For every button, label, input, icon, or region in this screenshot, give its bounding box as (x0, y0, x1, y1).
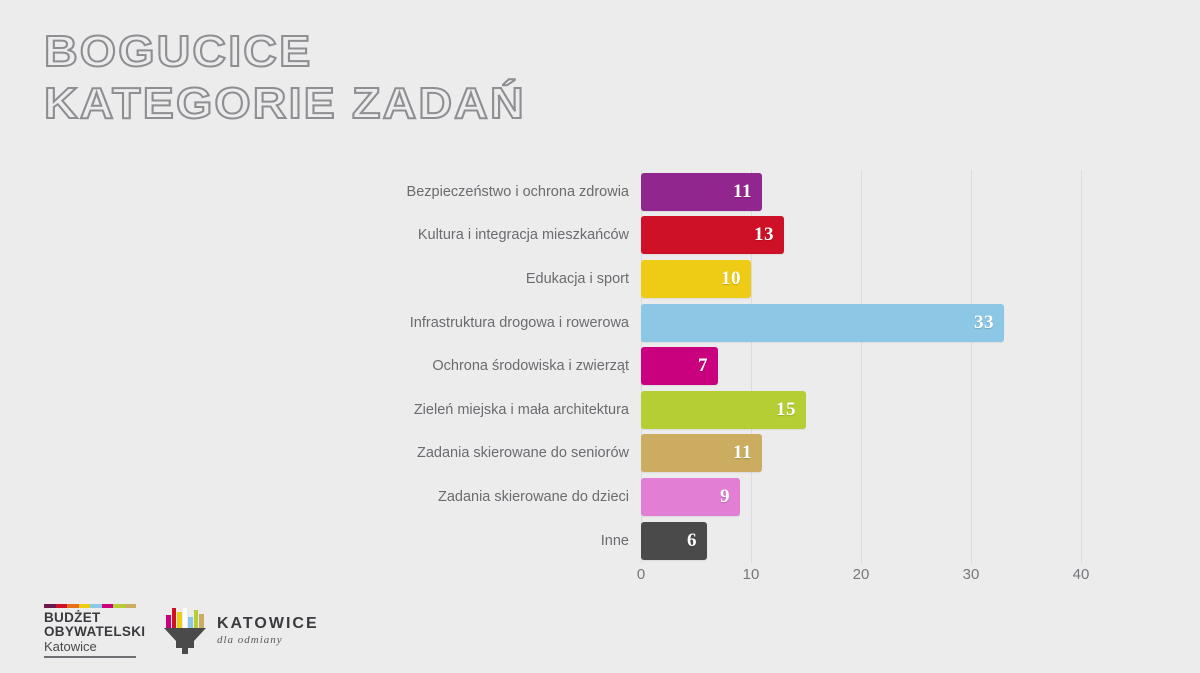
bar-row[interactable]: Ochrona środowiska i zwierząt7 (641, 344, 1081, 388)
category-label: Zadania skierowane do seniorów (417, 445, 629, 461)
bar-value-label: 13 (754, 224, 774, 246)
x-axis: 010203040 (641, 566, 1081, 590)
bar-value-label: 9 (720, 486, 730, 508)
katowice-bar-segment (172, 608, 177, 629)
katowice-bars-icon (166, 608, 204, 629)
logo-bar: BUDŻET OBYWATELSKI Katowice KATOWICE dla… (44, 604, 319, 658)
bar-value-label: 6 (687, 530, 697, 552)
bar[interactable]: 6 (641, 522, 707, 560)
bar[interactable]: 10 (641, 260, 751, 298)
category-label: Infrastruktura drogowa i rowerowa (410, 315, 629, 331)
katowice-bar-segment (177, 612, 182, 629)
category-label: Inne (601, 533, 629, 549)
category-label: Ochrona środowiska i zwierząt (432, 358, 629, 374)
budzet-line-1: BUDŻET (44, 611, 140, 625)
bar-value-label: 7 (698, 355, 708, 377)
x-tick-label: 40 (1073, 566, 1090, 583)
bar-row[interactable]: Kultura i integracja mieszkańców13 (641, 214, 1081, 258)
category-label: Zadania skierowane do dzieci (438, 489, 629, 505)
katowice-logo: KATOWICE dla odmiany (162, 608, 319, 654)
stripe-segment (113, 604, 125, 608)
budzet-line-3: Katowice (44, 639, 140, 654)
gridline-40 (1081, 170, 1082, 563)
bar-rows: Bezpieczeństwo i ochrona zdrowia11Kultur… (641, 170, 1081, 563)
bar-row[interactable]: Bezpieczeństwo i ochrona zdrowia11 (641, 170, 1081, 214)
katowice-mark-icon (162, 608, 208, 654)
bar-value-label: 11 (733, 181, 752, 203)
bar-row[interactable]: Zieleń miejska i mała architektura15 (641, 388, 1081, 432)
stripe-segment (79, 604, 91, 608)
bar-row[interactable]: Zadania skierowane do dzieci9 (641, 475, 1081, 519)
bar[interactable]: 7 (641, 347, 718, 385)
bar[interactable]: 9 (641, 478, 740, 516)
katowice-bar-segment (194, 610, 199, 629)
stripe-segment (56, 604, 68, 608)
bar-value-label: 10 (721, 268, 741, 290)
bar[interactable]: 11 (641, 173, 762, 211)
bar[interactable]: 15 (641, 391, 806, 429)
stripe-segment (102, 604, 114, 608)
budzet-rule (44, 656, 136, 658)
budzet-line-2: OBYWATELSKI (44, 625, 140, 639)
bar-row[interactable]: Zadania skierowane do seniorów11 (641, 432, 1081, 476)
bar[interactable]: 33 (641, 304, 1004, 342)
katowice-bar-segment (199, 614, 204, 629)
stripe-segment (90, 604, 102, 608)
x-tick-label: 20 (853, 566, 870, 583)
x-tick-label: 10 (743, 566, 760, 583)
bar-row[interactable]: Infrastruktura drogowa i rowerowa33 (641, 301, 1081, 345)
bar-chart: Bezpieczeństwo i ochrona zdrowia11Kultur… (0, 0, 1200, 673)
x-tick-label: 0 (637, 566, 645, 583)
category-label: Bezpieczeństwo i ochrona zdrowia (407, 184, 629, 200)
budzet-stripe-icon (44, 604, 136, 608)
stripe-segment (67, 604, 79, 608)
katowice-name: KATOWICE (217, 616, 319, 632)
katowice-funnel-icon (164, 628, 206, 654)
bar-row[interactable]: Inne6 (641, 519, 1081, 563)
category-label: Edukacja i sport (526, 271, 629, 287)
bar-row[interactable]: Edukacja i sport10 (641, 257, 1081, 301)
bar[interactable]: 13 (641, 216, 784, 254)
bar-value-label: 33 (974, 312, 994, 334)
bar-value-label: 11 (733, 442, 752, 464)
katowice-bar-segment (166, 615, 171, 629)
katowice-tagline: dla odmiany (217, 635, 319, 646)
katowice-wordmark: KATOWICE dla odmiany (217, 616, 319, 646)
category-label: Kultura i integracja mieszkańców (418, 227, 629, 243)
stripe-segment (125, 604, 137, 608)
plot-area: Bezpieczeństwo i ochrona zdrowia11Kultur… (641, 170, 1081, 563)
katowice-bar-segment (183, 608, 188, 629)
bar-value-label: 15 (776, 399, 796, 421)
category-label: Zieleń miejska i mała architektura (414, 402, 629, 418)
x-tick-label: 30 (963, 566, 980, 583)
budzet-obywatelski-logo: BUDŻET OBYWATELSKI Katowice (44, 604, 140, 658)
stripe-segment (44, 604, 56, 608)
bar[interactable]: 11 (641, 434, 762, 472)
